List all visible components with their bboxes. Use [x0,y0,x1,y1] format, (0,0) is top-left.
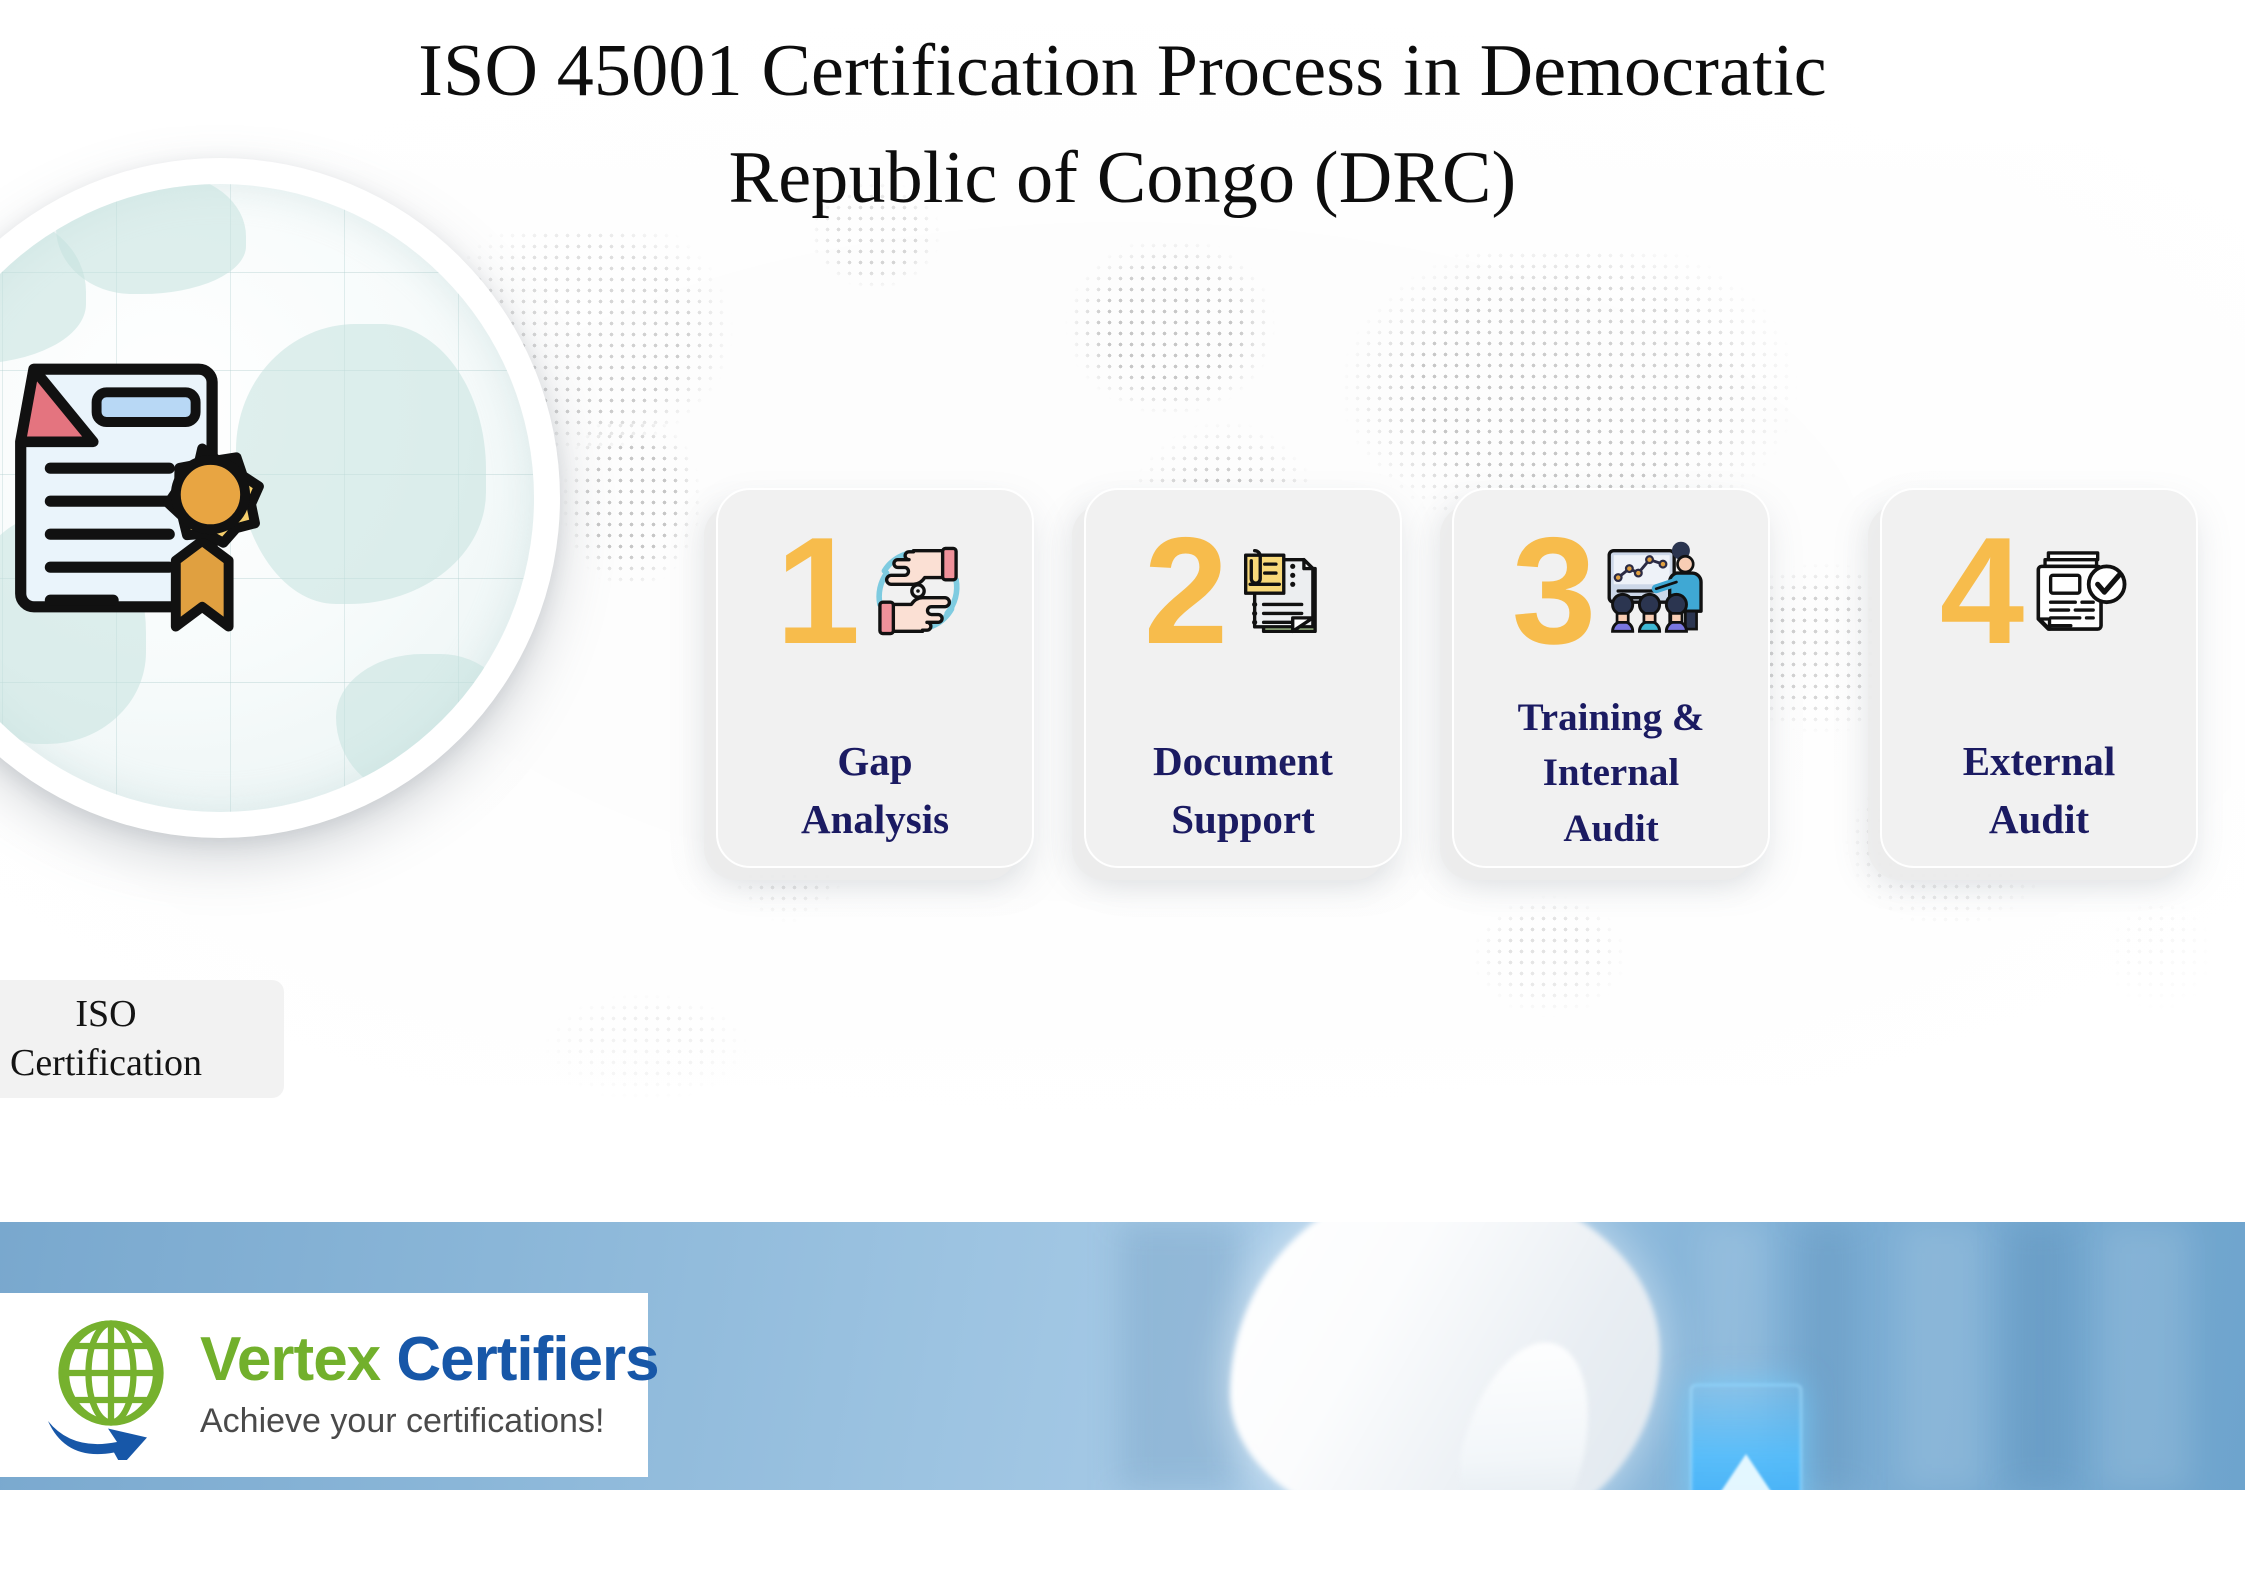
page-title-line-2: Republic of Congo (DRC) [200,125,2045,232]
step-2-label-line-1: Document [1096,732,1390,790]
training-presentation-icon [1598,535,1710,647]
step-card-document-support[interactable]: 2 [1084,488,1402,868]
step-4-number: 4 [1940,516,2021,666]
step-1-header: 1 [718,516,1032,666]
step-3-caption: Training & Internal Audit [1464,690,1758,856]
audit-checklist-check-icon [2026,535,2138,647]
hand-photo [1230,1222,1660,1490]
page-title: ISO 45001 Certification Process in Democ… [0,18,2245,233]
step-3-header: 3 [1454,516,1768,666]
step-3-label-line-1: Training & [1464,690,1758,745]
step-2-number: 2 [1144,516,1225,666]
infographic-canvas: ISO 45001 Certification Process in Democ… [0,0,2245,1587]
brand-logo-text: Vertex Certifiers Achieve your certifica… [200,1329,659,1440]
brand-name-first: Vertex [200,1325,380,1394]
step-3-label-line-2: Internal [1464,745,1758,800]
step-card-training-internal-audit[interactable]: 3 [1452,488,1770,868]
step-3-label-line-3: Audit [1464,801,1758,856]
handshake-puzzle-icon [862,535,974,647]
brand-tagline: Achieve your certifications! [200,1403,659,1440]
up-arrow-icon [1718,1454,1774,1490]
step-4-label-line-2: Audit [1892,790,2186,848]
globe-arrow-logo-icon [36,1310,186,1460]
step-4-label-line-1: External [1892,732,2186,790]
step-3-number: 3 [1512,516,1593,666]
step-1-number: 1 [776,516,857,666]
documents-paperclip-icon [1230,535,1342,647]
brand-name: Vertex Certifiers [200,1329,659,1391]
step-1-label-line-1: Gap [728,732,1022,790]
step-2-header: 2 [1086,516,1400,666]
step-4-header: 4 [1882,516,2196,666]
brand-logo[interactable]: Vertex Certifiers Achieve your certifica… [0,1293,648,1477]
bottom-white-strip [0,1490,2245,1587]
step-2-caption: Document Support [1096,732,1390,848]
step-4-caption: External Audit [1892,732,2186,848]
page-title-line-1: ISO 45001 Certification Process in Democ… [200,18,2045,125]
step-1-caption: Gap Analysis [728,732,1022,848]
step-card-external-audit[interactable]: 4 [1880,488,2198,868]
step-card-gap-analysis[interactable]: 1 Gap Anal [716,488,1034,868]
upper-panel: ISO 45001 Certification Process in Democ… [0,0,2245,1222]
step-1-label-line-2: Analysis [728,790,1022,848]
brand-name-second: Certifiers [396,1325,658,1394]
step-2-label-line-2: Support [1096,790,1390,848]
